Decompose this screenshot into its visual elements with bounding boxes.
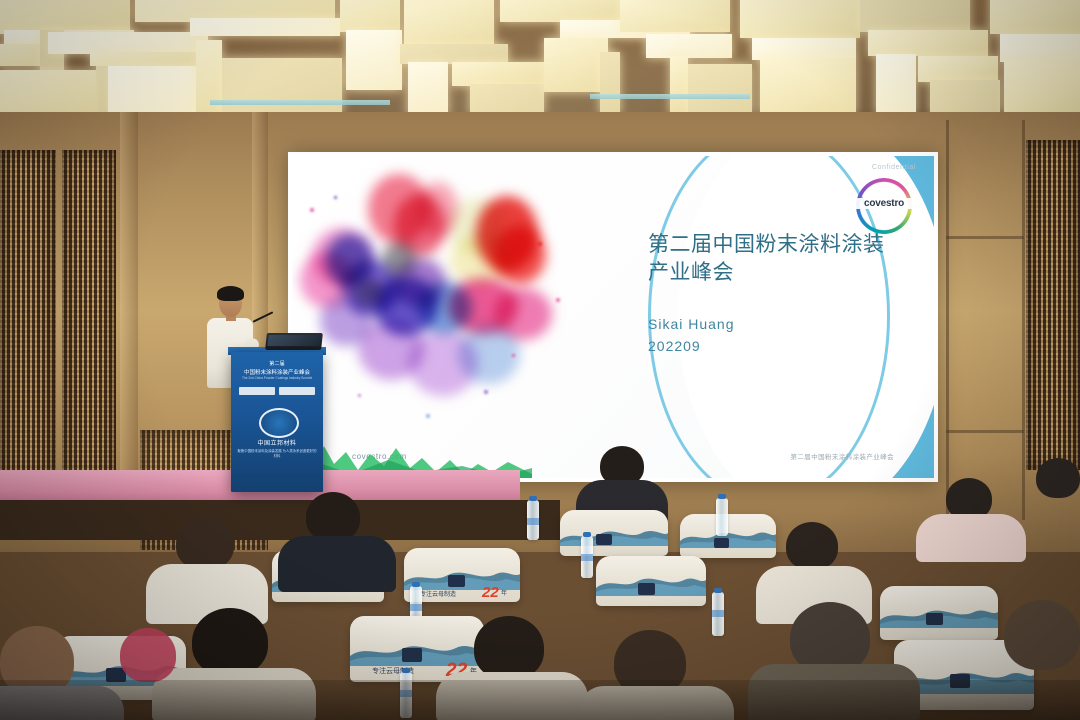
audience-head <box>786 522 838 570</box>
bottle-label <box>410 604 422 611</box>
chair-brand-icon <box>402 648 422 662</box>
floor-shadow <box>0 680 1080 720</box>
bottle-cap <box>412 582 420 587</box>
slide-title: 第二届中国粉末涂料涂装 产业峰会 <box>648 231 930 287</box>
chair-cover <box>596 556 706 606</box>
wall-seam <box>946 236 1024 239</box>
chair-slogan: 专注云母制造 <box>420 589 456 598</box>
bottle-cap <box>529 496 537 501</box>
chair-brand-icon <box>448 575 465 587</box>
slide-author: Sikai Huang <box>648 316 735 332</box>
sponsor-logo <box>239 387 275 395</box>
podium-line2: 中国粉末涂料涂装产业峰会 <box>231 368 323 376</box>
bottle-cap <box>402 668 410 673</box>
audience-head <box>306 492 360 542</box>
audience-shoulders <box>916 514 1026 562</box>
podium-seal-icon <box>259 408 299 438</box>
bottle-cap <box>718 494 726 499</box>
chair-cover <box>680 514 776 558</box>
audience-area: 专注云母制造 22 年 <box>0 440 1080 720</box>
chair-years-unit: 年 <box>501 588 507 597</box>
slide-date: 202209 <box>648 338 701 354</box>
projection-screen: 第二届中国粉末涂料涂装 产业峰会 Sikai Huang 202209 Conf… <box>288 152 938 482</box>
slide-title-line1: 第二届中国粉末涂料涂装 <box>648 231 930 259</box>
bottle-label <box>527 518 539 525</box>
bottle-cap <box>583 532 591 537</box>
wall-seam <box>946 430 1024 433</box>
sponsor-logo <box>279 387 315 395</box>
audience-head <box>192 608 268 676</box>
podium-line3: The 2nd China Powder Coatings Industry S… <box>231 376 323 380</box>
podium-line1: 第二届 <box>231 360 323 367</box>
powder-explosion-graphic <box>298 178 598 448</box>
conference-photo: 第二届中国粉末涂料涂装 产业峰会 Sikai Huang 202209 Conf… <box>0 0 1080 720</box>
audience-head <box>176 518 234 570</box>
bottle-cap <box>714 588 722 593</box>
covestro-logo: covestro <box>856 178 912 234</box>
covestro-wordmark: covestro <box>854 198 914 209</box>
laptop <box>265 333 323 350</box>
wall-column <box>252 112 268 372</box>
chair-years-number: 22 <box>482 584 499 601</box>
audience-shoulders <box>278 536 396 592</box>
chair-cover <box>880 586 998 640</box>
audience-head <box>1036 458 1080 498</box>
wall-grille-panel <box>62 150 116 480</box>
laptop-screen <box>268 335 321 346</box>
audience-head <box>1004 600 1080 670</box>
chair-brand-icon <box>638 583 655 595</box>
chair-cover <box>560 510 668 556</box>
podium-sponsor-logos <box>239 386 315 396</box>
chair-brand-icon <box>714 538 729 548</box>
bottle-label <box>712 610 724 617</box>
chair-brand-icon <box>596 534 612 545</box>
speaker-hair <box>217 286 244 301</box>
audience-bag <box>120 628 176 682</box>
slide-title-line2: 产业峰会 <box>648 259 930 287</box>
wave-pattern <box>560 524 668 546</box>
confidential-label: Confidential <box>872 164 916 171</box>
bottle-label <box>581 554 593 561</box>
wall-grille-panel <box>0 150 56 480</box>
wall-grille-panel <box>1026 140 1080 470</box>
chair-brand-icon <box>926 613 943 625</box>
water-bottle <box>716 498 728 536</box>
audience-head <box>474 616 544 680</box>
ceiling-lights <box>0 0 1080 120</box>
